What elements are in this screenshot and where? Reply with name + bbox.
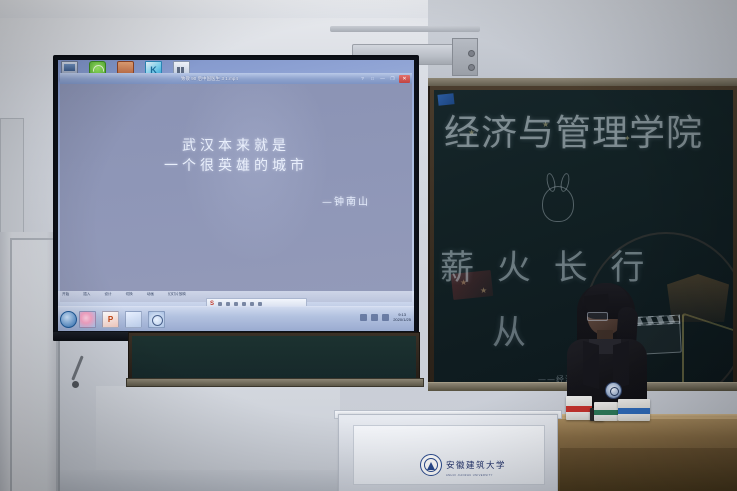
presenter-lapel-left — [583, 341, 599, 390]
minimize-button[interactable]: — — [379, 75, 386, 82]
lectern-podium: 安徽建筑大学 ANHUI JIANZHU UNIVERSITY — [338, 414, 558, 491]
network-icon[interactable] — [360, 314, 367, 321]
system-tray[interactable]: 9:13 2020/1/25 — [360, 312, 411, 322]
wall-panel — [0, 118, 24, 240]
ribbon-tab[interactable]: 设计 — [104, 292, 111, 297]
close-button[interactable]: ✕ — [399, 75, 410, 83]
ribbon-tab[interactable]: 切换 — [126, 292, 133, 297]
ribbon-tab[interactable]: 插入 — [83, 292, 90, 297]
door-frame — [10, 238, 58, 491]
ribbon-tab[interactable]: 开始 — [62, 292, 69, 297]
slide-quote-block: 武汉本来就是 一个很英雄的城市 —钟南山 — [60, 136, 412, 208]
slide-line-2: 一个很英雄的城市 — [60, 156, 412, 176]
door-knob[interactable] — [72, 381, 79, 388]
blackboard-title: 经济与管理学院 — [444, 104, 732, 156]
university-name-cn: 安徽建筑大学 — [446, 459, 506, 471]
powerpoint-app-icon[interactable] — [102, 311, 119, 328]
presenter-university-badge — [605, 382, 622, 399]
university-name-en: ANHUI JIANZHU UNIVERSITY — [446, 474, 493, 477]
pointer-icon[interactable] — [234, 302, 238, 306]
ribbon-tab-row[interactable]: 开始 插入 设计 切换 动画 幻灯片放映 — [62, 292, 186, 297]
start-button[interactable] — [60, 311, 77, 328]
projected-desktop[interactable]: 我的电脑 致敬 90 后中国医生 3 1.mp4 ? □ — ❐ ✕ — [58, 60, 414, 331]
grid-icon[interactable] — [242, 302, 246, 306]
slide-line-1: 武汉本来就是 — [60, 136, 412, 156]
media-player-window[interactable]: 致敬 90 后中国医生 3 1.mp4 ? □ — ❐ ✕ 武汉本来就是 一个很… — [60, 73, 412, 327]
classroom-scene: MITSUBISHI ELECTRIC 我的电脑 致敬 90 后中国医生 3 1… — [0, 0, 737, 491]
ac-mount-bracket — [452, 38, 478, 76]
desk-box-blue[interactable] — [618, 399, 650, 421]
podium-front-panel: 安徽建筑大学 ANHUI JIANZHU UNIVERSITY — [353, 425, 545, 485]
ribbon-tab[interactable]: 动画 — [147, 292, 154, 297]
left-blackboard-frame — [128, 332, 420, 384]
presenter-glasses — [587, 312, 608, 321]
pen-icon[interactable] — [218, 302, 222, 306]
music-icon[interactable] — [226, 302, 230, 306]
brush-icon[interactable] — [258, 302, 262, 306]
media-player-titlebar[interactable]: 致敬 90 后中国医生 3 1.mp4 ? □ — ❐ ✕ — [60, 73, 412, 84]
paint-app-icon[interactable] — [79, 311, 96, 328]
ac-bolt-icon — [468, 64, 475, 71]
left-chalk-tray — [126, 378, 424, 387]
desk-box-red[interactable] — [566, 396, 592, 420]
windows-taskbar[interactable]: 9:13 2020/1/25 — [58, 306, 414, 331]
video-playback-area[interactable]: 武汉本来就是 一个很英雄的城市 —钟南山 — [60, 84, 412, 302]
taskbar-clock[interactable]: 9:13 2020/1/25 — [393, 312, 411, 322]
ribbon-tab[interactable]: 幻灯片放映 — [168, 292, 186, 297]
clock-date: 2020/1/25 — [393, 317, 411, 322]
slide-attribution: —钟南山 — [60, 193, 370, 208]
ceiling-rail — [330, 26, 480, 32]
ac-bolt-icon — [468, 50, 475, 57]
university-emblem-icon — [420, 454, 442, 476]
settings-icon[interactable] — [250, 302, 254, 306]
media-player-app-icon[interactable] — [148, 311, 165, 328]
chalk-rabbit-icon — [542, 186, 574, 222]
media-player-title: 致敬 90 后中国医生 3 1.mp4 — [60, 76, 359, 82]
image-viewer-app-icon[interactable] — [125, 311, 142, 328]
university-logo: 安徽建筑大学 — [420, 454, 506, 476]
taskbar-app-icons[interactable] — [79, 311, 165, 328]
volume-icon[interactable] — [371, 314, 378, 321]
left-blackboard-surface — [132, 336, 416, 380]
desk-front-panel — [560, 448, 737, 491]
desk-box-green[interactable] — [594, 402, 618, 421]
help-button[interactable]: ? — [359, 75, 366, 82]
maximize-button[interactable]: ❐ — [389, 75, 396, 82]
restore-button[interactable]: □ — [369, 75, 376, 82]
ime-icon[interactable] — [382, 314, 389, 321]
window-controls[interactable]: ? □ — ❐ ✕ — [359, 75, 412, 83]
